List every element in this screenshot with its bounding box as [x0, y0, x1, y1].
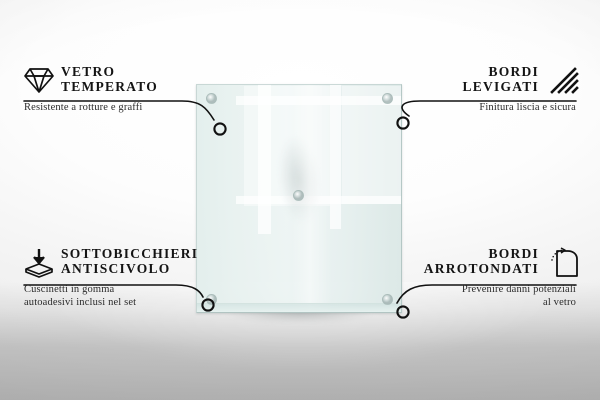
- callout-sottobicchieri-antiscivolo: SOTTOBICCHIERI ANTISCIVOLO Cuscinetti in…: [22, 246, 240, 309]
- callout-desc-line1: Cuscinetti in gomma: [24, 283, 240, 296]
- callout-title-line1: SOTTOBICCHIERI: [61, 246, 198, 261]
- infographic-stage: VETRO TEMPERATO Resistente a rotture e g…: [0, 0, 600, 400]
- vignette: [0, 0, 600, 400]
- callout-title-line1: BORDI: [462, 64, 539, 79]
- callout-title-line2: ARROTONDATI: [424, 261, 539, 276]
- callout-title-line1: VETRO: [61, 64, 158, 79]
- callout-desc-line1: Finitura liscia e sicura: [368, 101, 576, 114]
- callout-desc-line2: autoadesivi inclusi nel set: [24, 296, 240, 309]
- callout-desc-line1: Resistente a rotture e graffi: [24, 101, 237, 114]
- callout-bordi-arrotondati: BORDI ARROTONDATI Prevenire danni potenz…: [360, 246, 578, 309]
- callout-desc-line2: al vetro: [360, 296, 576, 309]
- rounded-corner-icon: [548, 247, 578, 275]
- callout-title-line2: TEMPERATO: [61, 79, 158, 94]
- callout-vetro-temperato: VETRO TEMPERATO Resistente a rotture e g…: [22, 64, 237, 114]
- press-pad-icon: [22, 247, 52, 275]
- callout-title-line1: BORDI: [424, 246, 539, 261]
- diamond-icon: [22, 65, 52, 93]
- callout-title-line2: ANTISCIVOLO: [61, 261, 198, 276]
- callout-title-line2: LEVIGATI: [462, 79, 539, 94]
- callout-desc-line1: Prevenire danni potenziali: [360, 283, 576, 296]
- hatched-edge-icon: [548, 65, 578, 93]
- callout-bordi-levigati: BORDI LEVIGATI Finitura liscia e sicura: [368, 64, 578, 114]
